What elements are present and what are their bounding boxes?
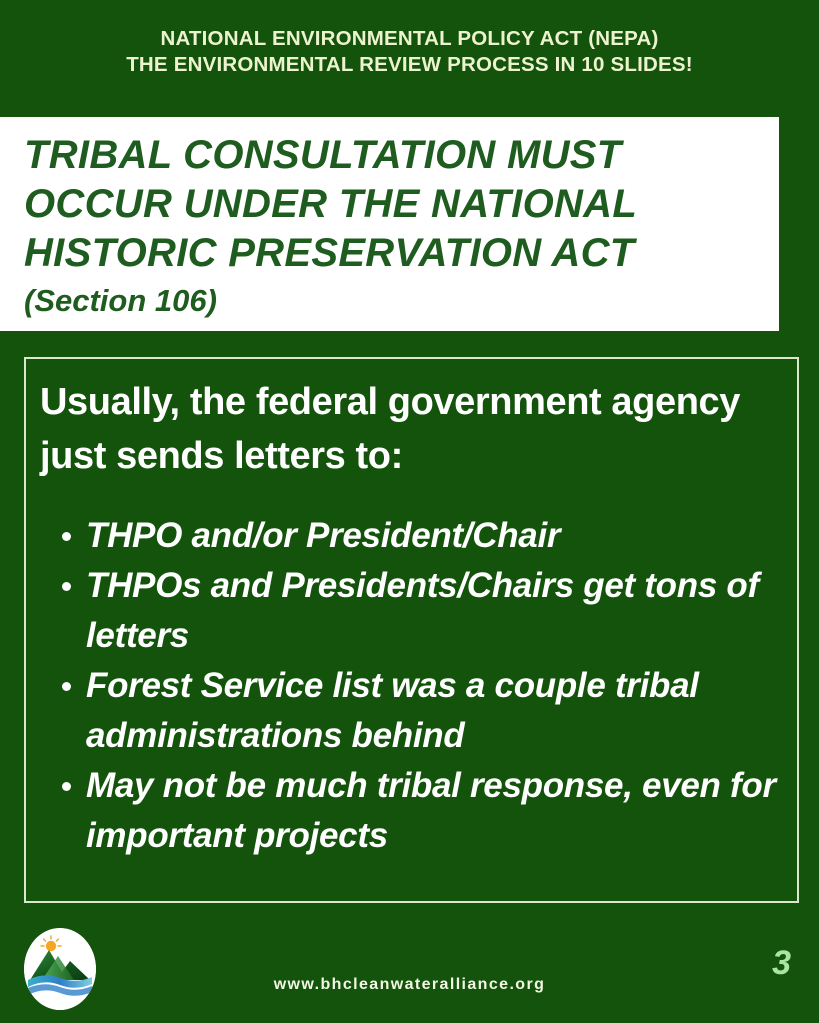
list-item: THPOs and Presidents/Chairs get tons of … <box>40 561 779 661</box>
title-line-2: OCCUR UNDER THE NATIONAL <box>24 180 759 229</box>
page-number: 3 <box>772 944 791 983</box>
bullet-dot-icon <box>62 582 71 591</box>
header-line-1: NATIONAL ENVIRONMENTAL POLICY ACT (NEPA) <box>0 26 819 52</box>
content-box: Usually, the federal government agency j… <box>24 357 799 903</box>
footer-website-url[interactable]: www.bhcleanwateralliance.org <box>0 976 819 994</box>
title-subtitle: (Section 106) <box>24 281 759 321</box>
bullet-list: THPO and/or President/Chair THPOs and Pr… <box>40 511 779 861</box>
list-item-label: THPO and/or President/Chair <box>86 516 560 555</box>
content-intro-text: Usually, the federal government agency j… <box>40 375 779 483</box>
title-panel: TRIBAL CONSULTATION MUST OCCUR UNDER THE… <box>0 117 779 331</box>
bullet-dot-icon <box>62 532 71 541</box>
list-item-label: Forest Service list was a couple tribal … <box>86 666 699 755</box>
slide-header: NATIONAL ENVIRONMENTAL POLICY ACT (NEPA)… <box>0 26 819 78</box>
bullet-dot-icon <box>62 682 71 691</box>
header-line-2: THE ENVIRONMENTAL REVIEW PROCESS IN 10 S… <box>0 52 819 78</box>
list-item-label: THPOs and Presidents/Chairs get tons of … <box>86 566 759 655</box>
list-item: Forest Service list was a couple tribal … <box>40 661 779 761</box>
bhc-clean-water-alliance-logo-icon <box>24 928 96 1010</box>
bullet-dot-icon <box>62 782 71 791</box>
list-item: THPO and/or President/Chair <box>40 511 779 561</box>
title-line-3: HISTORIC PRESERVATION ACT <box>24 229 759 278</box>
title-line-1: TRIBAL CONSULTATION MUST <box>24 131 759 180</box>
list-item: May not be much tribal response, even fo… <box>40 761 779 861</box>
list-item-label: May not be much tribal response, even fo… <box>86 766 776 855</box>
